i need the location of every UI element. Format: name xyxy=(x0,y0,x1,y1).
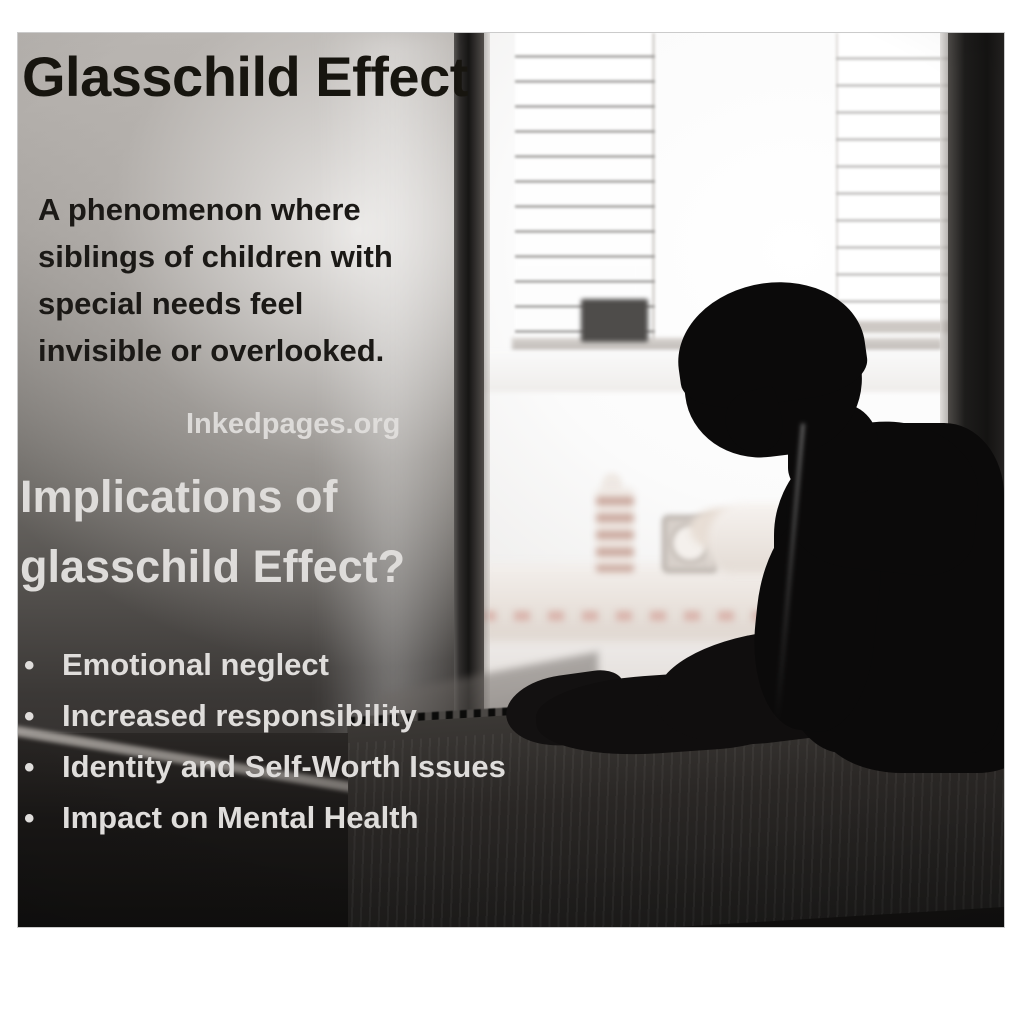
poster-canvas: Glasschild Effect A phenomenon where sib… xyxy=(0,0,1024,1024)
implications-list: • Emotional neglect • Increased responsi… xyxy=(24,640,644,844)
section-heading-line1: Implications of xyxy=(20,462,490,532)
bullet-icon: • xyxy=(24,743,62,793)
list-item: • Impact on Mental Health xyxy=(24,793,644,844)
list-item-label: Increased responsibility xyxy=(62,691,417,741)
bullet-icon: • xyxy=(24,794,62,844)
page-title: Glasschild Effect xyxy=(22,44,468,109)
list-item-label: Impact on Mental Health xyxy=(62,793,419,843)
list-item: • Identity and Self-Worth Issues xyxy=(24,742,644,793)
definition-text: A phenomenon where siblings of children … xyxy=(38,186,418,374)
list-item-label: Emotional neglect xyxy=(62,640,329,690)
section-heading-line2: glasschild Effect? xyxy=(20,532,490,602)
section-heading: Implications of glasschild Effect? xyxy=(20,462,490,602)
list-item: • Emotional neglect xyxy=(24,640,644,691)
bullet-icon: • xyxy=(24,641,62,691)
bullet-icon: • xyxy=(24,692,62,742)
watermark: Inkedpages.org xyxy=(186,408,400,441)
list-item-label: Identity and Self-Worth Issues xyxy=(62,742,506,792)
list-item: • Increased responsibility xyxy=(24,691,644,742)
